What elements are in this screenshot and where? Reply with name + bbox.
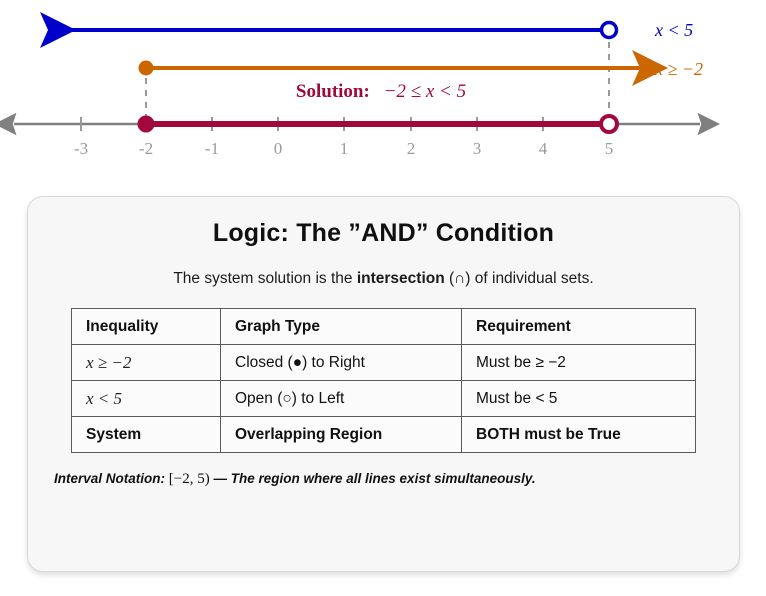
solution-closed-endpoint [138,116,155,133]
tick-label: 4 [539,139,548,158]
number-line-panel: -3 -2 -1 0 1 2 3 4 5 x < 5 x ≥ −2 Soluti… [0,0,766,180]
solution-caption-math: −2 ≤ x < 5 [384,81,467,102]
card-subtitle-bold: intersection [357,270,445,287]
table-cell-requirement: Must be ≥ −2 [462,345,696,381]
footer-interval: [−2, 5) [169,471,210,487]
card-subtitle-pre: The system solution is the [173,270,357,287]
table-row: x < 5 Open (○) to Left Must be < 5 [72,381,696,417]
solution-caption: Solution: −2 ≤ x < 5 [296,81,466,102]
card-footer-note: Interval Notation: [−2, 5) — The region … [54,471,713,488]
tick-label: 5 [605,139,614,158]
table-header-cell: Graph Type [221,309,462,345]
tick-label: 0 [274,139,283,158]
table-header-row: Inequality Graph Type Requirement [72,309,696,345]
table-row-system: System Overlapping Region BOTH must be T… [72,417,696,453]
table-cell-inequality: x < 5 [72,381,221,417]
logic-info-card: Logic: The ”AND” Condition The system so… [27,196,740,572]
blue-open-endpoint [602,23,617,38]
tick-label: 3 [473,139,482,158]
card-subtitle-post: (∩) of individual sets. [445,270,594,287]
table-header-cell: Requirement [462,309,696,345]
table-cell-graph-type: Open (○) to Left [221,381,462,417]
solution-open-endpoint [601,116,617,132]
solution-caption-prefix: Solution: [296,81,370,102]
orange-series-label: x ≥ −2 [654,59,703,79]
blue-series-label: x < 5 [654,20,693,40]
number-line-svg: -3 -2 -1 0 1 2 3 4 5 x < 5 x ≥ −2 Soluti… [0,0,766,180]
orange-closed-endpoint [139,61,154,76]
tick-label: 2 [407,139,416,158]
table-cell-requirement: BOTH must be True [462,417,696,453]
table-cell-requirement: Must be < 5 [462,381,696,417]
table-header-cell: Inequality [72,309,221,345]
footer-label: Interval Notation: [54,471,165,486]
tick-label: -1 [205,139,219,158]
tick-label: 1 [340,139,349,158]
tick-label: -3 [74,139,88,158]
table-row: x ≥ −2 Closed (●) to Right Must be ≥ −2 [72,345,696,381]
table-cell-graph-type: Closed (●) to Right [221,345,462,381]
table-cell-graph-type: Overlapping Region [221,417,462,453]
table-cell-inequality: x ≥ −2 [72,345,221,381]
tick-label: -2 [139,139,153,158]
footer-text: — The region where all lines exist simul… [214,471,536,486]
logic-table: Inequality Graph Type Requirement x ≥ −2… [71,308,696,453]
table-cell-inequality: System [72,417,221,453]
card-title: Logic: The ”AND” Condition [28,219,739,248]
card-subtitle: The system solution is the intersection … [28,270,739,288]
